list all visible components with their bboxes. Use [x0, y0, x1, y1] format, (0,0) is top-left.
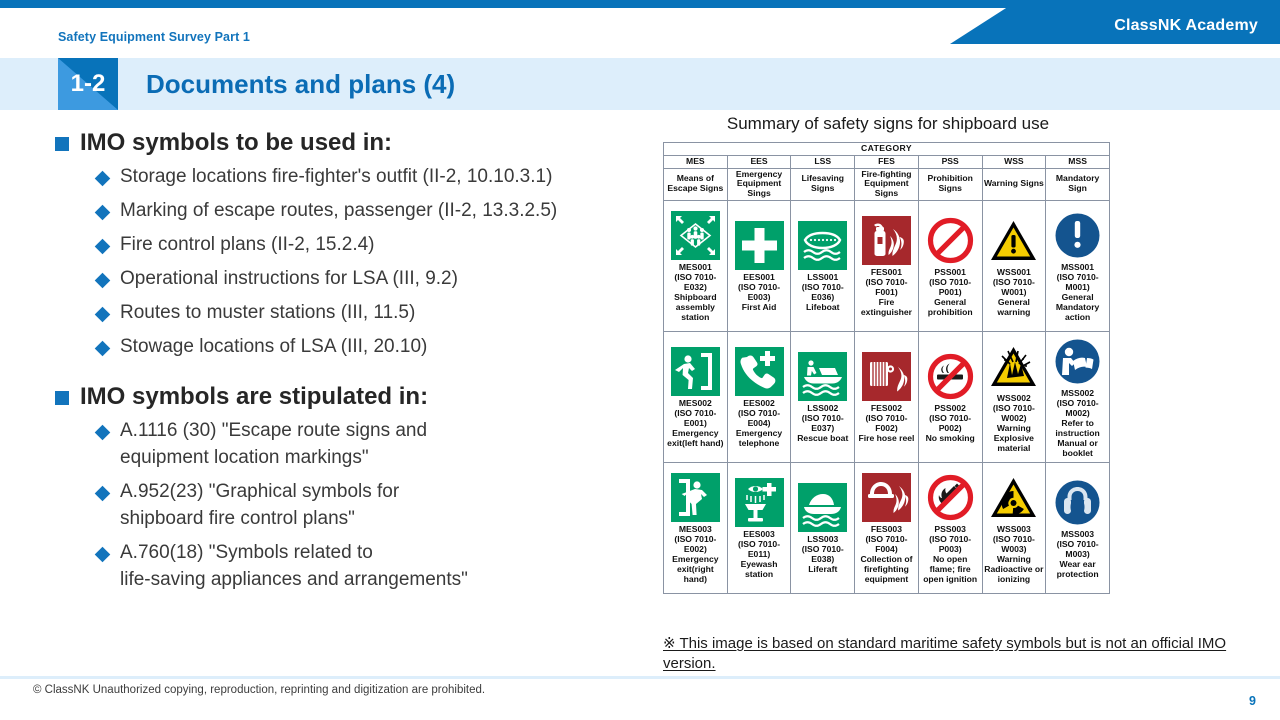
- list-item-label: Storage locations fire-fighter's outfit …: [120, 164, 552, 191]
- square-bullet-icon: [55, 391, 69, 405]
- no-open-flame-icon: [926, 473, 975, 522]
- firefighting-collection-icon: [862, 473, 911, 522]
- list-item-label: Operational instructions for LSA (III, 9…: [120, 266, 458, 293]
- column-name-ees: Emergency Equipment Sings: [727, 168, 791, 200]
- table-category-row: CATEGORY: [664, 143, 1110, 156]
- list-item: A.760(18) "Symbols related to life-savin…: [97, 540, 655, 594]
- sign-caption: EES002 (ISO 7010-E004) Emergency telepho…: [729, 399, 790, 449]
- sign-caption: FES003 (ISO 7010-F004) Collection of fir…: [856, 525, 917, 585]
- diamond-bullet-icon: [95, 171, 111, 187]
- sign-cell: MES003 (ISO 7010-E002) Emergency exit(ri…: [664, 462, 728, 593]
- sign-cell: PSS003 (ISO 7010-P003) No open flame; fi…: [918, 462, 982, 593]
- sign-cell: WSS003 (ISO 7010-W003) Warning Radioacti…: [982, 462, 1046, 593]
- sign-cell: MSS001 (ISO 7010-M001) General Mandatory…: [1046, 200, 1110, 331]
- section-heading: IMO symbols are stipulated in:: [55, 382, 655, 412]
- general-prohibition-icon: [926, 216, 975, 265]
- column-code-mss: MSS: [1046, 155, 1110, 168]
- table-row: MES002 (ISO 7010-E001) Emergency exit(le…: [664, 331, 1110, 462]
- content-right-column: Summary of safety signs for shipboard us…: [663, 114, 1113, 594]
- copyright-text: © ClassNK Unauthorized copying, reproduc…: [33, 684, 485, 696]
- category-header: CATEGORY: [664, 143, 1110, 156]
- list-item-label: Routes to muster stations (III, 11.5): [120, 300, 415, 327]
- sign-cell: FES003 (ISO 7010-F004) Collection of fir…: [855, 462, 919, 593]
- sign-caption: MES002 (ISO 7010-E001) Emergency exit(le…: [665, 399, 726, 449]
- page-number: 9: [1249, 694, 1256, 708]
- column-code-pss: PSS: [918, 155, 982, 168]
- sign-caption: EES001 (ISO 7010-E003) First Aid: [729, 273, 790, 313]
- diamond-bullet-icon: [95, 307, 111, 323]
- list-item: A.1116 (30) "Escape route signs and equi…: [97, 418, 655, 472]
- sign-caption: FES002 (ISO 7010-F002) Fire hose reel: [856, 404, 917, 444]
- liferaft-icon: [798, 483, 847, 532]
- emergency-exit-left-icon: [671, 347, 720, 396]
- list-item: Routes to muster stations (III, 11.5): [97, 300, 655, 327]
- eyewash-station-icon: [735, 478, 784, 527]
- course-label: Safety Equipment Survey Part 1: [58, 30, 250, 44]
- column-name-lss: Lifesaving Signs: [791, 168, 855, 200]
- section-block-0: IMO symbols to be used in: Storage locat…: [55, 128, 655, 361]
- sign-cell: EES001 (ISO 7010-E003) First Aid: [727, 200, 791, 331]
- sign-caption: LSS002 (ISO 7010-E037) Rescue boat: [792, 404, 853, 444]
- table-code-row: MES EES LSS FES PSS WSS MSS: [664, 155, 1110, 168]
- section-heading-label: IMO symbols to be used in:: [80, 128, 392, 158]
- sign-caption: LSS003 (ISO 7010-E038) Liferaft: [792, 535, 853, 575]
- sign-cell: WSS002 (ISO 7010-W002) Warning Explosive…: [982, 331, 1046, 462]
- list-item-label: Marking of escape routes, passenger (II-…: [120, 198, 557, 225]
- sign-caption: PSS002 (ISO 7010-P002) No smoking: [920, 404, 981, 444]
- column-code-lss: LSS: [791, 155, 855, 168]
- table-row: MES001 (ISO 7010-E032) Shipboard assembl…: [664, 200, 1110, 331]
- content-left-column: IMO symbols to be used in: Storage locat…: [55, 128, 655, 601]
- section-items-0: Storage locations fire-fighter's outfit …: [97, 164, 655, 361]
- sign-cell: PSS002 (ISO 7010-P002) No smoking: [918, 331, 982, 462]
- sign-cell: MSS002 (ISO 7010-M002) Refer to instruct…: [1046, 331, 1110, 462]
- table-row: MES003 (ISO 7010-E002) Emergency exit(ri…: [664, 462, 1110, 593]
- radioactive-warning-icon: [989, 473, 1038, 522]
- sign-caption: EES003 (ISO 7010-E011) Eyewash station: [729, 530, 790, 580]
- brand-banner: ClassNK Academy: [950, 8, 1280, 44]
- section-heading: IMO symbols to be used in:: [55, 128, 655, 158]
- lifeboat-icon: [798, 221, 847, 270]
- safety-signs-table: CATEGORY MES EES LSS FES PSS WSS MSS Mea…: [663, 142, 1110, 594]
- column-name-fes: Fire-fighting Equipment Signs: [855, 168, 919, 200]
- sign-caption: WSS003 (ISO 7010-W003) Warning Radioacti…: [984, 525, 1045, 585]
- column-code-wss: WSS: [982, 155, 1046, 168]
- sign-caption: PSS001 (ISO 7010-P001) General prohibiti…: [920, 268, 981, 318]
- slide: ClassNK Academy Safety Equipment Survey …: [0, 0, 1280, 720]
- square-bullet-icon: [55, 137, 69, 151]
- first-aid-icon: [735, 221, 784, 270]
- no-smoking-icon: [926, 352, 975, 401]
- sign-caption: WSS001 (ISO 7010-W001) General warning: [984, 268, 1045, 318]
- sign-cell: MES002 (ISO 7010-E001) Emergency exit(le…: [664, 331, 728, 462]
- diamond-bullet-icon: [95, 425, 111, 441]
- section-items-1: A.1116 (30) "Escape route signs and equi…: [97, 418, 655, 594]
- column-name-pss: Prohibition Signs: [918, 168, 982, 200]
- rescue-boat-icon: [798, 352, 847, 401]
- diamond-bullet-icon: [95, 273, 111, 289]
- table-name-row: Means of Escape Signs Emergency Equipmen…: [664, 168, 1110, 200]
- section-number-badge: 1-2: [58, 58, 118, 110]
- brand-title: ClassNK Academy: [1114, 17, 1258, 35]
- sign-caption: FES001 (ISO 7010-F001) Fire extinguisher: [856, 268, 917, 318]
- column-code-ees: EES: [727, 155, 791, 168]
- image-disclaimer-text: ※ This image is based on standard mariti…: [663, 635, 1226, 672]
- image-disclaimer-note: ※ This image is based on standard mariti…: [663, 634, 1273, 674]
- list-item: Fire control plans (II-2, 15.2.4): [97, 232, 655, 259]
- footer-divider: [0, 676, 1280, 679]
- sign-cell: EES002 (ISO 7010-E004) Emergency telepho…: [727, 331, 791, 462]
- wear-ear-protection-icon: [1053, 478, 1102, 527]
- list-item: Operational instructions for LSA (III, 9…: [97, 266, 655, 293]
- column-code-mes: MES: [664, 155, 728, 168]
- section-heading-label: IMO symbols are stipulated in:: [80, 382, 428, 412]
- table-caption: Summary of safety signs for shipboard us…: [663, 114, 1113, 134]
- list-item: A.952(23) "Graphical symbols for shipboa…: [97, 479, 655, 533]
- sign-cell: LSS001 (ISO 7010-E036) Lifeboat: [791, 200, 855, 331]
- diamond-bullet-icon: [95, 485, 111, 501]
- assembly-station-icon: [671, 211, 720, 260]
- fire-hose-reel-icon: [862, 352, 911, 401]
- sign-cell: EES003 (ISO 7010-E011) Eyewash station: [727, 462, 791, 593]
- sign-cell: LSS002 (ISO 7010-E037) Rescue boat: [791, 331, 855, 462]
- explosive-material-icon: [989, 342, 1038, 391]
- sign-caption: MES003 (ISO 7010-E002) Emergency exit(ri…: [665, 525, 726, 585]
- diamond-bullet-icon: [95, 546, 111, 562]
- fire-extinguisher-icon: [862, 216, 911, 265]
- list-item-label: A.760(18) "Symbols related to life-savin…: [120, 540, 468, 594]
- sign-cell: PSS001 (ISO 7010-P001) General prohibiti…: [918, 200, 982, 331]
- column-code-fes: FES: [855, 155, 919, 168]
- sign-caption: WSS002 (ISO 7010-W002) Warning Explosive…: [984, 394, 1045, 454]
- diamond-bullet-icon: [95, 239, 111, 255]
- emergency-telephone-icon: [735, 347, 784, 396]
- list-item-label: Fire control plans (II-2, 15.2.4): [120, 232, 375, 259]
- column-name-mss: Mandatory Sign: [1046, 168, 1110, 200]
- refer-to-manual-icon: [1053, 337, 1102, 386]
- list-item-label: A.952(23) "Graphical symbols for shipboa…: [120, 479, 399, 533]
- list-item: Marking of escape routes, passenger (II-…: [97, 198, 655, 225]
- sign-caption: PSS003 (ISO 7010-P003) No open flame; fi…: [920, 525, 981, 585]
- section-number-label: 1-2: [58, 58, 118, 110]
- general-mandatory-icon: [1053, 211, 1102, 260]
- list-item-label: Stowage locations of LSA (III, 20.10): [120, 334, 427, 361]
- sign-cell: FES001 (ISO 7010-F001) Fire extinguisher: [855, 200, 919, 331]
- column-name-wss: Warning Signs: [982, 168, 1046, 200]
- sign-cell: LSS003 (ISO 7010-E038) Liferaft: [791, 462, 855, 593]
- sign-cell: MSS003 (ISO 7010-M003) Wear ear protecti…: [1046, 462, 1110, 593]
- list-item: Storage locations fire-fighter's outfit …: [97, 164, 655, 191]
- diamond-bullet-icon: [95, 341, 111, 357]
- sign-caption: MES001 (ISO 7010-E032) Shipboard assembl…: [665, 263, 726, 323]
- sign-caption: MSS002 (ISO 7010-M002) Refer to instruct…: [1047, 389, 1108, 459]
- sign-cell: FES002 (ISO 7010-F002) Fire hose reel: [855, 331, 919, 462]
- diamond-bullet-icon: [95, 205, 111, 221]
- list-item: Stowage locations of LSA (III, 20.10): [97, 334, 655, 361]
- sign-caption: LSS001 (ISO 7010-E036) Lifeboat: [792, 273, 853, 313]
- page-title: Documents and plans (4): [146, 58, 455, 110]
- general-warning-icon: [989, 216, 1038, 265]
- column-name-mes: Means of Escape Signs: [664, 168, 728, 200]
- sign-caption: MSS003 (ISO 7010-M003) Wear ear protecti…: [1047, 530, 1108, 580]
- list-item-label: A.1116 (30) "Escape route signs and equi…: [120, 418, 427, 472]
- sign-cell: WSS001 (ISO 7010-W001) General warning: [982, 200, 1046, 331]
- top-blue-strip: [0, 0, 1280, 8]
- sign-caption: MSS001 (ISO 7010-M001) General Mandatory…: [1047, 263, 1108, 323]
- section-block-1: IMO symbols are stipulated in: A.1116 (3…: [55, 382, 655, 594]
- emergency-exit-right-icon: [671, 473, 720, 522]
- sign-cell: MES001 (ISO 7010-E032) Shipboard assembl…: [664, 200, 728, 331]
